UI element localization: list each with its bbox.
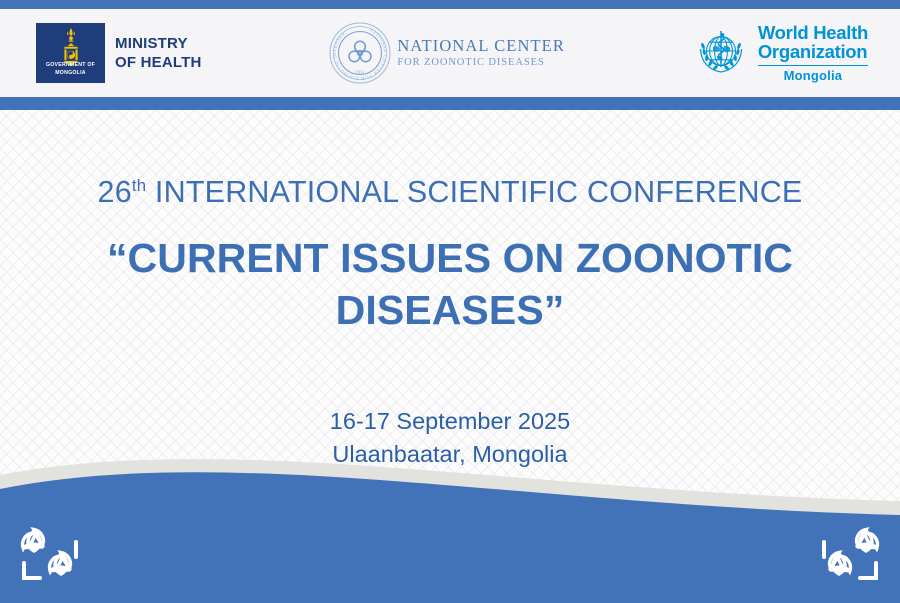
national-center-label-line2: FOR ZOONOTIC DISEASES	[397, 57, 565, 69]
header-bottom-accent-bar	[0, 97, 900, 110]
soyombo-icon	[56, 27, 86, 67]
zoonotic-diseases-seal-icon: NATIONAL CENTER FOR ZOONOTIC DISEASES 19…	[329, 22, 391, 84]
logo-who: World Health Organization Mongolia	[693, 9, 900, 97]
event-date: 16-17 September 2025	[0, 405, 900, 438]
footer-wave-decoration	[0, 443, 900, 603]
svg-text:1931: 1931	[355, 71, 366, 76]
mongolian-triquetra-knot-ornament-icon	[14, 523, 88, 591]
ornament-bottom-left	[14, 523, 88, 591]
logo-ministry-of-health: GOVERNMENT OF MONGOLIA MINISTRY OF HEALT…	[0, 9, 202, 97]
national-center-label-line1: NATIONAL CENTER	[397, 37, 565, 56]
title-block: 26th INTERNATIONAL SCIENTIFIC CONFERENCE…	[0, 110, 900, 472]
ministry-of-health-label: MINISTRY OF HEALTH	[115, 34, 202, 72]
top-accent-bar	[0, 0, 900, 9]
conference-title-slide: GOVERNMENT OF MONGOLIA MINISTRY OF HEALT…	[0, 0, 900, 603]
ministry-label-line2: OF HEALTH	[115, 53, 202, 72]
ministry-label-line1: MINISTRY	[115, 34, 202, 53]
conference-theme-title: “CURRENT ISSUES ON ZOONOTIC DISEASES”	[0, 232, 900, 337]
emblem-caption-line1: GOVERNMENT OF	[36, 63, 105, 68]
who-label-line2: Organization	[758, 42, 868, 61]
who-emblem-icon	[693, 25, 749, 81]
emblem-caption-line2: MONGOLIA	[36, 71, 105, 76]
wave-primary-shape	[0, 472, 900, 603]
mongolian-triquetra-knot-ornament-icon	[812, 523, 886, 591]
conference-ordinal-suffix: th	[132, 176, 146, 195]
slide-body: 26th INTERNATIONAL SCIENTIFIC CONFERENCE…	[0, 110, 900, 603]
mongolia-soyombo-emblem: GOVERNMENT OF MONGOLIA	[36, 23, 105, 83]
header-logo-band: GOVERNMENT OF MONGOLIA MINISTRY OF HEALT…	[0, 9, 900, 97]
logo-national-center-zoonotic-diseases: NATIONAL CENTER FOR ZOONOTIC DISEASES 19…	[329, 9, 565, 97]
ornament-bottom-right	[812, 523, 886, 591]
who-label-line1: World Health	[758, 23, 868, 42]
conference-line: 26th INTERNATIONAL SCIENTIFIC CONFERENCE	[0, 175, 900, 210]
conference-number: 26	[98, 175, 132, 209]
conference-line-text: INTERNATIONAL SCIENTIFIC CONFERENCE	[146, 175, 802, 209]
wave-shapes	[0, 443, 900, 603]
who-country-label: Mongolia	[758, 68, 868, 83]
who-divider-rule	[758, 65, 868, 67]
who-wordmark: World Health Organization Mongolia	[758, 23, 868, 83]
